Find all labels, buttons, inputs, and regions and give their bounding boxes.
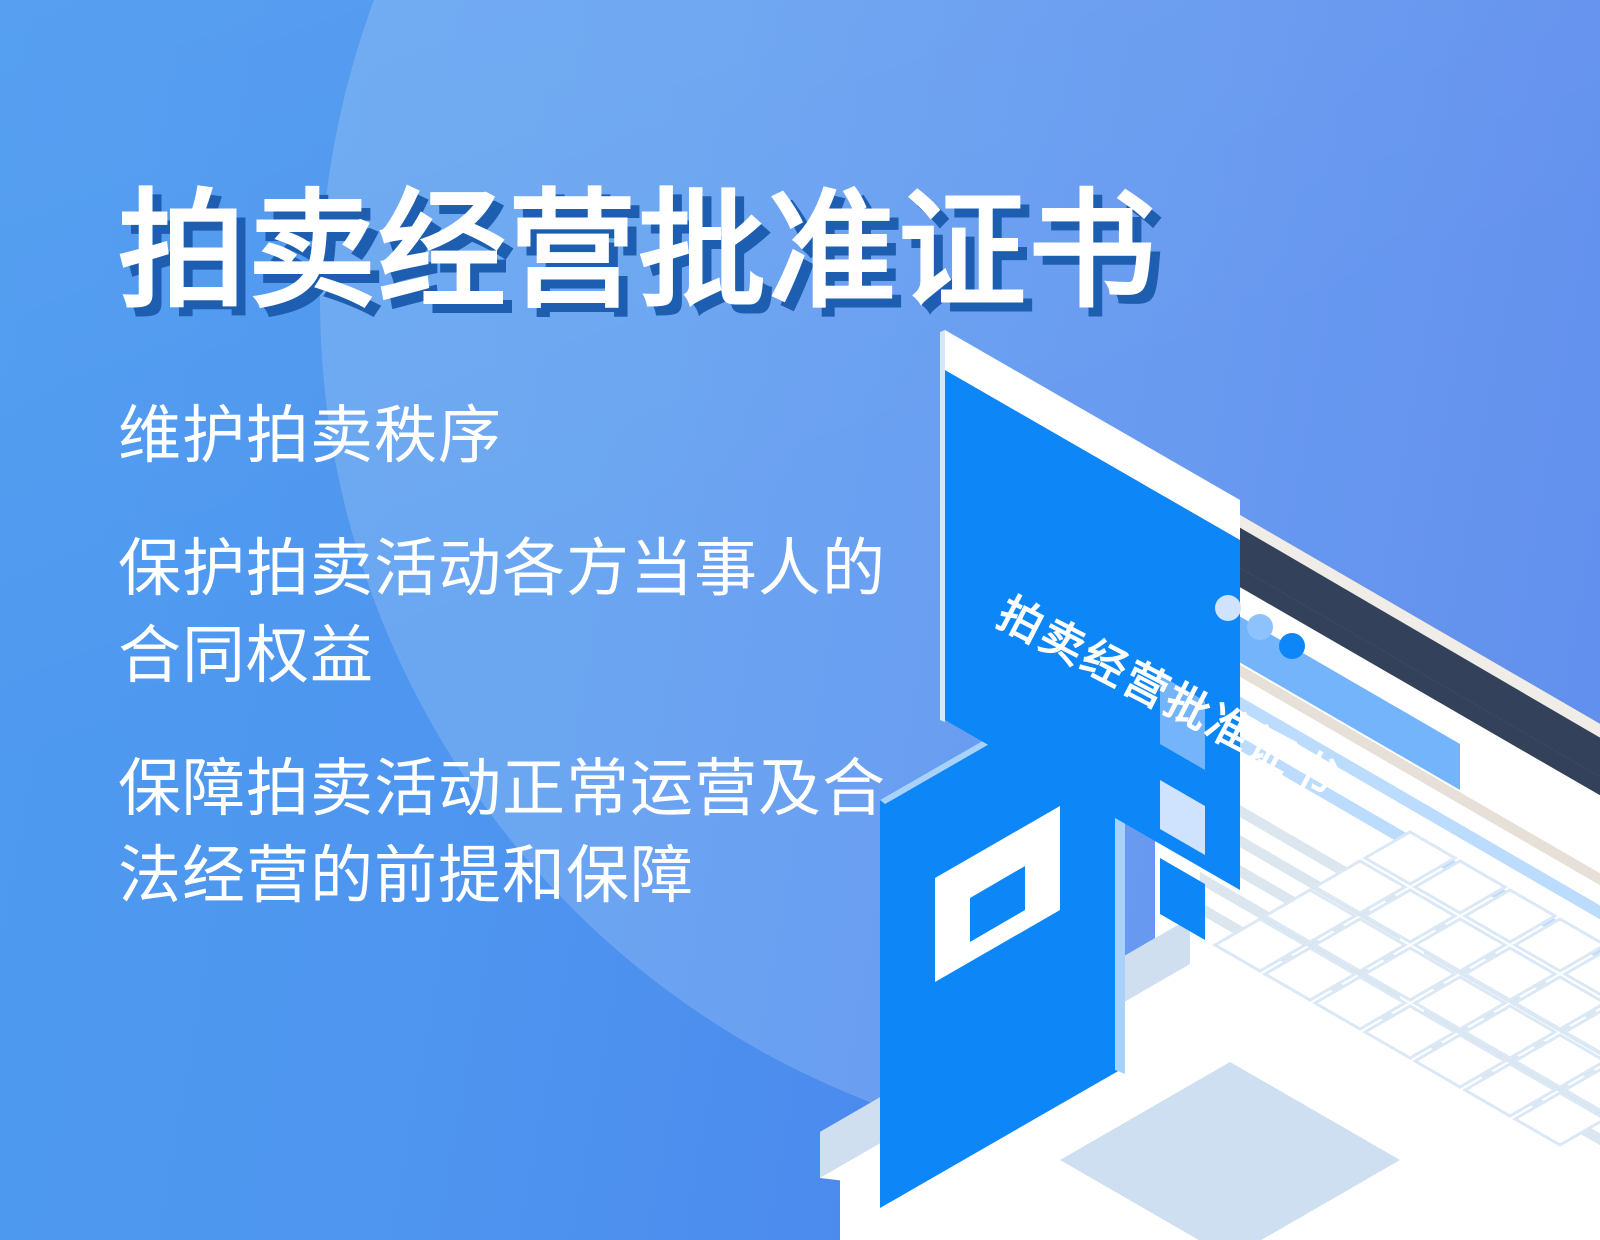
bullet-item-3: 保障拍卖活动正常运营及合法经营的前提和保障 bbox=[118, 746, 918, 920]
bullet-item-2: 保护拍卖活动各方当事人的合同权益 bbox=[118, 526, 918, 700]
screen-chips bbox=[1160, 675, 1205, 940]
bullet-item-1: 维护拍卖秩序 bbox=[118, 393, 918, 480]
bullet-list: 维护拍卖秩序 保护拍卖活动各方当事人的合同权益 保障拍卖活动正常运营及合法经营的… bbox=[118, 393, 998, 920]
window-dot-2-icon bbox=[1247, 614, 1273, 640]
window-dot-3-icon bbox=[1279, 633, 1305, 659]
page-title: 拍卖经营批准证书 bbox=[118, 176, 998, 327]
text-content: 拍卖经营批准证书 维护拍卖秩序 保护拍卖活动各方当事人的合同权益 保障拍卖活动正… bbox=[118, 176, 998, 920]
window-dot-1-icon bbox=[1215, 595, 1241, 621]
poster-canvas: 拍卖经营批准证书 维护拍卖秩序 保护拍卖活动各方当事人的合同权益 保障拍卖活动正… bbox=[0, 0, 1600, 1240]
